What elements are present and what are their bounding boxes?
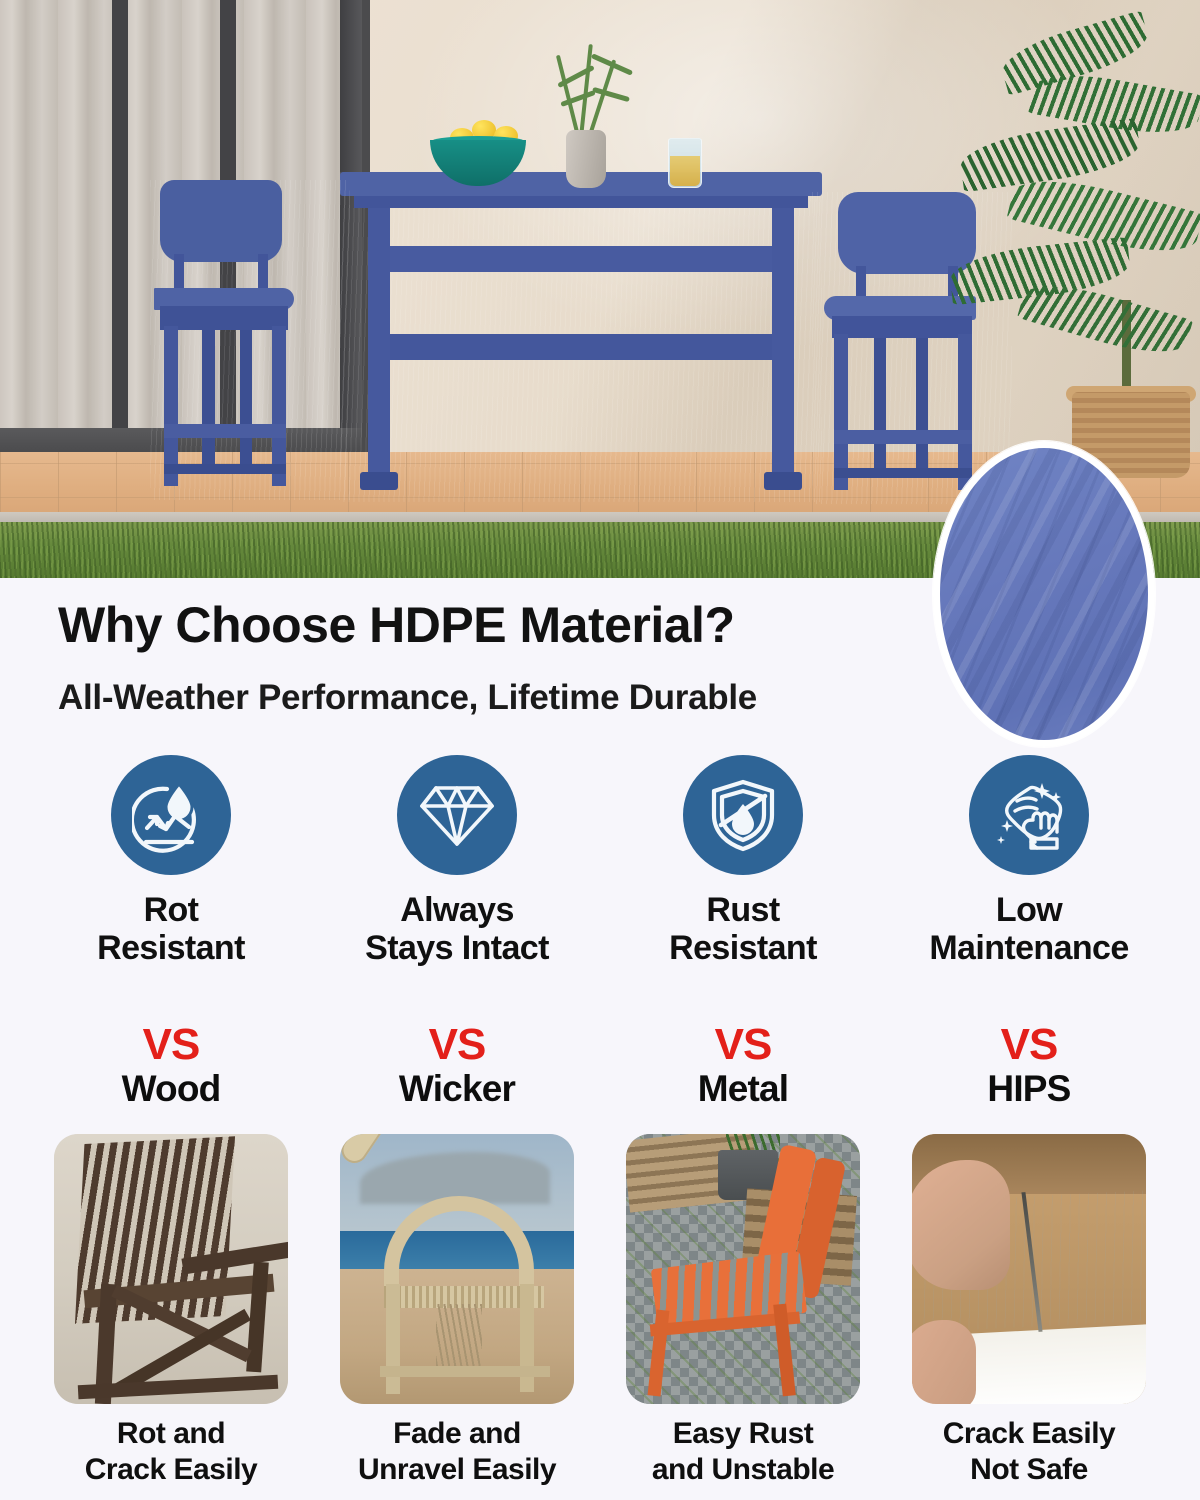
table-leg-left	[368, 206, 390, 482]
versus-cell-metal: VS Metal	[600, 1022, 886, 1132]
feature-label-line1: Rot	[144, 891, 199, 929]
stool-backrest	[160, 180, 282, 262]
rusted-metal-chair-photo	[626, 1134, 860, 1404]
table-leg-right	[772, 206, 794, 482]
stool-leg	[164, 326, 178, 486]
feature-label-line2: Resistant	[97, 929, 245, 967]
comparison-caption-hips: Crack Easily Not Safe	[886, 1416, 1172, 1496]
stool-apron	[832, 316, 972, 338]
feature-rot-resistant: Rot Resistant	[28, 755, 314, 1015]
versus-cell-hips: VS HIPS	[886, 1022, 1172, 1132]
glass-liquid	[670, 156, 700, 186]
feature-label: Rot Resistant	[97, 891, 245, 967]
comparison-caption-row: Rot and Crack Easily Fade and Unravel Ea…	[28, 1416, 1172, 1496]
diamond-icon	[397, 755, 517, 875]
hdpe-console-table	[340, 172, 822, 502]
stool-stretcher	[834, 468, 972, 478]
page-title: Why Choose HDPE Material?	[58, 596, 938, 654]
frayed-wicker-chair-photo	[340, 1134, 574, 1404]
stool-leg	[874, 334, 886, 474]
stool-footrest	[834, 430, 972, 444]
stool-leg	[916, 334, 928, 474]
caption-line1: Easy Rust	[673, 1417, 814, 1450]
feature-always-stays-intact: Always Stays Intact	[314, 755, 600, 1015]
comparison-photo-row	[28, 1134, 1172, 1406]
versus-cell-wicker: VS Wicker	[314, 1022, 600, 1132]
caption-line2: Not Safe	[970, 1453, 1088, 1486]
feature-label-line2: Resistant	[669, 929, 817, 967]
hand-finger	[912, 1320, 976, 1404]
stool-leg	[202, 326, 215, 470]
stool-leg	[240, 326, 252, 466]
wicker-fraying	[436, 1304, 482, 1366]
feature-label: Rust Resistant	[669, 891, 817, 967]
feature-label-line1: Always	[400, 891, 514, 929]
feature-label: Low Maintenance	[929, 891, 1128, 967]
feature-label: Always Stays Intact	[365, 891, 549, 967]
stool-leg	[272, 326, 286, 486]
hdpe-wood-grain-swatch	[933, 441, 1155, 747]
ceramic-vase	[566, 130, 606, 188]
comparison-photo-cell-wicker	[314, 1134, 600, 1406]
table-apron	[354, 194, 808, 208]
stool-footrest	[164, 424, 286, 438]
feature-label-line1: Low	[996, 891, 1062, 929]
feature-label-line2: Stays Intact	[365, 929, 549, 967]
feature-label-line2: Maintenance	[929, 929, 1128, 967]
cracked-hips-board-photo	[912, 1134, 1146, 1404]
wicker-stretcher	[380, 1366, 550, 1377]
caption-line2: and Unstable	[652, 1453, 834, 1486]
comparison-caption-wood: Rot and Crack Easily	[28, 1416, 314, 1496]
stool-backrest	[838, 192, 976, 274]
caption-line2: Unravel Easily	[358, 1453, 556, 1486]
versus-row: VS Wood VS Wicker VS Metal VS HIPS	[28, 1022, 1172, 1132]
metal-chair-scene	[626, 1134, 860, 1404]
wicker-chair-scene	[340, 1134, 574, 1404]
feature-rust-resistant: Rust Resistant	[600, 755, 886, 1015]
wood-chair-scene	[54, 1134, 288, 1404]
hdpe-stool-left	[150, 180, 350, 500]
door-mullion	[112, 0, 128, 454]
wicker-leg	[386, 1284, 400, 1394]
table-foot-right	[764, 472, 802, 490]
stool-leg	[958, 334, 972, 490]
stool-apron	[160, 306, 288, 330]
comparison-caption-metal: Easy Rust and Unstable	[600, 1416, 886, 1496]
hand-thumb	[912, 1160, 1010, 1290]
caption-line1: Fade and	[393, 1417, 521, 1450]
versus-material-name: Wood	[28, 1068, 314, 1110]
hips-board-scene	[912, 1134, 1146, 1404]
versus-badge: VS	[314, 1022, 600, 1068]
versus-badge: VS	[886, 1022, 1172, 1068]
feature-row: Rot Resistant Always Stays Intact	[28, 755, 1172, 1015]
feature-low-maintenance: Low Maintenance	[886, 755, 1172, 1015]
caption-line1: Rot and	[117, 1417, 225, 1450]
hdpe-stool-right	[812, 192, 1012, 504]
stool-stretcher	[164, 464, 286, 474]
water-drop-repel-icon	[111, 755, 231, 875]
shield-water-drop-icon	[683, 755, 803, 875]
stool-leg	[834, 334, 848, 490]
caption-line2: Crack Easily	[85, 1453, 257, 1486]
caption-line1: Crack Easily	[943, 1417, 1115, 1450]
versus-material-name: Metal	[600, 1068, 886, 1110]
versus-badge: VS	[28, 1022, 314, 1068]
weathered-wood-chair-photo	[54, 1134, 288, 1404]
table-shelf-lower	[388, 334, 774, 360]
table-shelf-upper	[388, 246, 774, 272]
versus-material-name: Wicker	[314, 1068, 600, 1110]
page-subtitle: All-Weather Performance, Lifetime Durabl…	[58, 678, 958, 718]
feature-label-line1: Rust	[706, 891, 779, 929]
versus-badge: VS	[600, 1022, 886, 1068]
hand-wipe-sparkle-icon	[969, 755, 1089, 875]
comparison-photo-cell-metal	[600, 1134, 886, 1406]
comparison-photo-cell-wood	[28, 1134, 314, 1406]
table-foot-left	[360, 472, 398, 490]
versus-cell-wood: VS Wood	[28, 1022, 314, 1132]
versus-material-name: HIPS	[886, 1068, 1172, 1110]
comparison-caption-wicker: Fade and Unravel Easily	[314, 1416, 600, 1496]
comparison-photo-cell-hips	[886, 1134, 1172, 1406]
